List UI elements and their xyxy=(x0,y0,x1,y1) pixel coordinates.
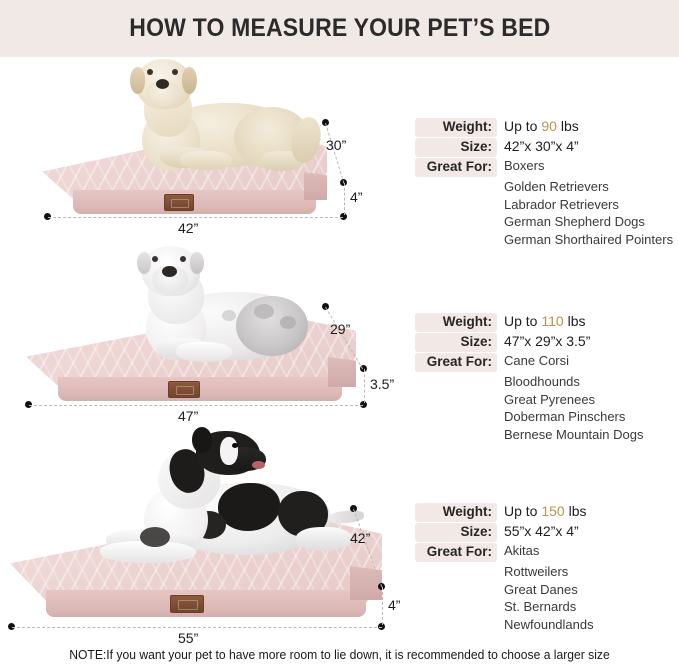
dog-white-gray-mastiff xyxy=(104,244,324,379)
dim-line-height xyxy=(382,587,383,625)
spec-label-great-for: Great For: xyxy=(415,158,497,177)
breed-item: German Shorthaired Pointers xyxy=(504,231,677,249)
breed-list: Rottweilers Great Danes St. Bernards New… xyxy=(504,563,677,633)
dog-cream-labrador xyxy=(106,55,316,187)
breed-item: Great Danes xyxy=(504,581,677,599)
weight-suffix: lbs xyxy=(568,313,586,329)
bed-right-side xyxy=(350,566,382,600)
weight-number: 150 xyxy=(541,503,564,519)
bed-right-side xyxy=(328,357,356,387)
infographic-page: HOW TO MEASURE YOUR PET’S BED xyxy=(0,0,679,668)
breed-item: St. Bernards xyxy=(504,598,677,616)
spec-label-weight: Weight: xyxy=(415,503,497,522)
spec-row-size: Size: 42”x 30”x 4” xyxy=(415,138,677,157)
dim-line-height xyxy=(344,183,345,215)
spec-label-great-for: Great For: xyxy=(415,353,497,372)
spec-label-size: Size: xyxy=(415,138,497,157)
breed-item: German Shepherd Dogs xyxy=(504,213,677,231)
breed-item: Bernese Mountain Dogs xyxy=(504,426,677,444)
breed-list: Bloodhounds Great Pyrenees Doberman Pins… xyxy=(504,373,677,443)
spec-row-size: Size: 55”x 42”x 4” xyxy=(415,523,677,542)
brand-tag-icon xyxy=(168,381,200,398)
spec-label-great-for: Great For: xyxy=(415,543,497,562)
spec-label-size: Size: xyxy=(415,333,497,352)
dim-label-height: 4” xyxy=(350,189,362,205)
spec-value-size: 42”x 30”x 4” xyxy=(504,138,579,155)
spec-value-size: 55”x 42”x 4” xyxy=(504,523,579,540)
spec-value-weight: Up to 150 lbs xyxy=(504,503,587,520)
weight-prefix: Up to xyxy=(504,118,537,134)
spec-label-weight: Weight: xyxy=(415,118,497,137)
bed-illustration-medium: 29” 3.5” 47” xyxy=(0,245,420,428)
page-header: HOW TO MEASURE YOUR PET’S BED xyxy=(0,0,679,57)
spec-value-size: 47”x 29”x 3.5” xyxy=(504,333,590,350)
breed-item: Cane Corsi xyxy=(504,353,569,369)
dim-label-height: 4” xyxy=(388,597,400,613)
breed-list: Golden Retrievers Labrador Retrievers Ge… xyxy=(504,178,677,248)
spec-block-medium: Weight: Up to 110 lbs Size: 47”x 29”x 3.… xyxy=(415,313,677,443)
weight-prefix: Up to xyxy=(504,313,537,329)
dim-label-width: 42” xyxy=(178,220,198,236)
spec-block-small: Weight: Up to 90 lbs Size: 42”x 30”x 4” … xyxy=(415,118,677,248)
breed-item: Rottweilers xyxy=(504,563,677,581)
bed-illustration-small: 30” 4” 42” xyxy=(0,57,400,240)
dim-line-width xyxy=(48,217,343,218)
breed-item: Bloodhounds xyxy=(504,373,677,391)
spec-label-size: Size: xyxy=(415,523,497,542)
spec-row-size: Size: 47”x 29”x 3.5” xyxy=(415,333,677,352)
breed-item: Boxers xyxy=(504,158,544,174)
weight-suffix: lbs xyxy=(561,118,579,134)
breed-item: Doberman Pinschers xyxy=(504,408,677,426)
breed-item: Newfoundlands xyxy=(504,616,677,634)
dim-line-width xyxy=(29,405,363,406)
spec-value-weight: Up to 90 lbs xyxy=(504,118,579,135)
weight-prefix: Up to xyxy=(504,503,537,519)
dim-label-depth: 42” xyxy=(350,530,370,546)
dim-line-height xyxy=(364,369,365,403)
spec-row-weight: Weight: Up to 150 lbs xyxy=(415,503,677,522)
bed-front-side xyxy=(73,190,316,214)
breed-item: Great Pyrenees xyxy=(504,391,677,409)
spec-row-great-for: Great For: Cane Corsi xyxy=(415,353,677,372)
spec-row-great-for: Great For: Boxers xyxy=(415,158,677,177)
bed-front-side xyxy=(58,377,342,401)
breed-item: Labrador Retrievers xyxy=(504,196,677,214)
weight-number: 110 xyxy=(541,313,563,329)
dog-black-white-great-dane xyxy=(100,425,350,595)
breed-item: Akitas xyxy=(504,543,539,559)
dim-line-depth xyxy=(325,123,344,184)
dim-label-depth: 30” xyxy=(326,137,346,153)
dim-label-depth: 29” xyxy=(330,321,350,337)
footer-note: NOTE:If you want your pet to have more r… xyxy=(10,648,669,662)
dim-label-height: 3.5” xyxy=(370,376,394,392)
spec-row-weight: Weight: Up to 90 lbs xyxy=(415,118,677,137)
dim-label-width: 55” xyxy=(178,630,198,646)
breed-item: Golden Retrievers xyxy=(504,178,677,196)
brand-tag-icon xyxy=(164,194,194,211)
dim-label-width: 47” xyxy=(178,408,198,424)
spec-row-weight: Weight: Up to 110 lbs xyxy=(415,313,677,332)
weight-suffix: lbs xyxy=(569,503,587,519)
brand-tag-icon xyxy=(170,595,204,613)
bed-illustration-large: 42” 4” 55” xyxy=(0,425,420,645)
page-title: HOW TO MEASURE YOUR PET’S BED xyxy=(129,14,550,43)
spec-row-great-for: Great For: Akitas xyxy=(415,543,677,562)
spec-value-weight: Up to 110 lbs xyxy=(504,313,585,330)
spec-block-large: Weight: Up to 150 lbs Size: 55”x 42”x 4”… xyxy=(415,503,677,633)
dim-line-width xyxy=(12,627,382,628)
spec-label-weight: Weight: xyxy=(415,313,497,332)
weight-number: 90 xyxy=(541,118,557,134)
